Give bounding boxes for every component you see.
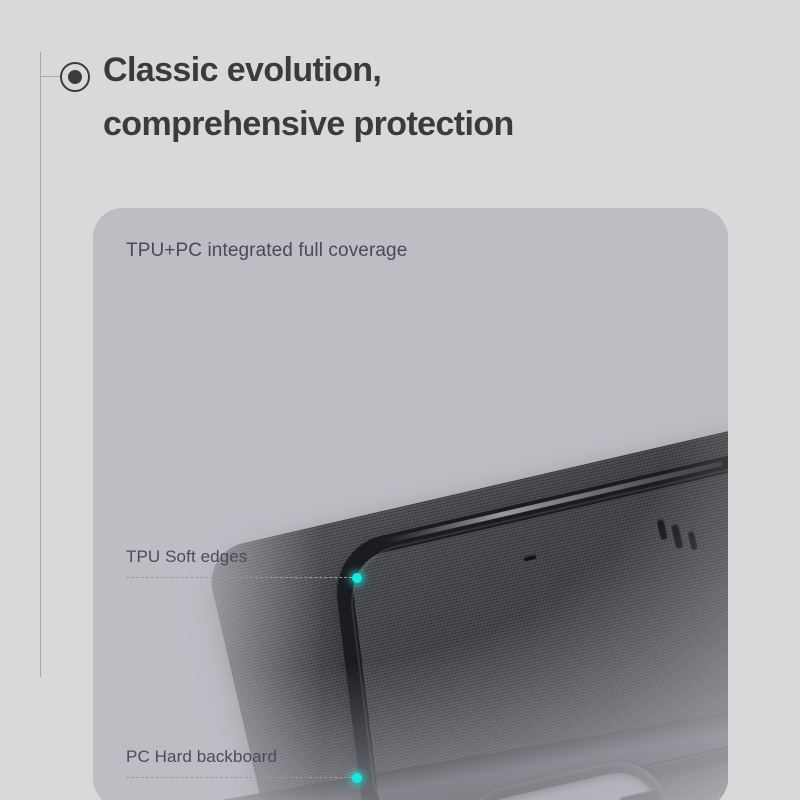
headline-line-1: Classic evolution, [103,44,743,98]
callout-marker-dot [352,573,362,583]
headline-line-2: comprehensive protection [103,98,743,152]
product-feature-panel: TPU+PC integrated full coverage TPU Soft… [93,208,728,800]
left-vertical-rule [40,52,41,677]
callout-marker-dot [352,773,362,783]
callout-label: TPU Soft edges [126,547,247,567]
photo-fade-top [93,208,728,338]
left-connector-tick [41,76,60,77]
product-photo [93,208,728,800]
target-circle-icon [60,62,90,92]
header-block: Classic evolution, comprehensive protect… [0,0,800,200]
callout-label: PC Hard backboard [126,747,277,767]
panel-title: TPU+PC integrated full coverage [126,240,407,262]
callout-dashed-line [126,777,357,778]
callout-dashed-line [126,577,357,578]
page-title: Classic evolution, comprehensive protect… [103,44,743,151]
